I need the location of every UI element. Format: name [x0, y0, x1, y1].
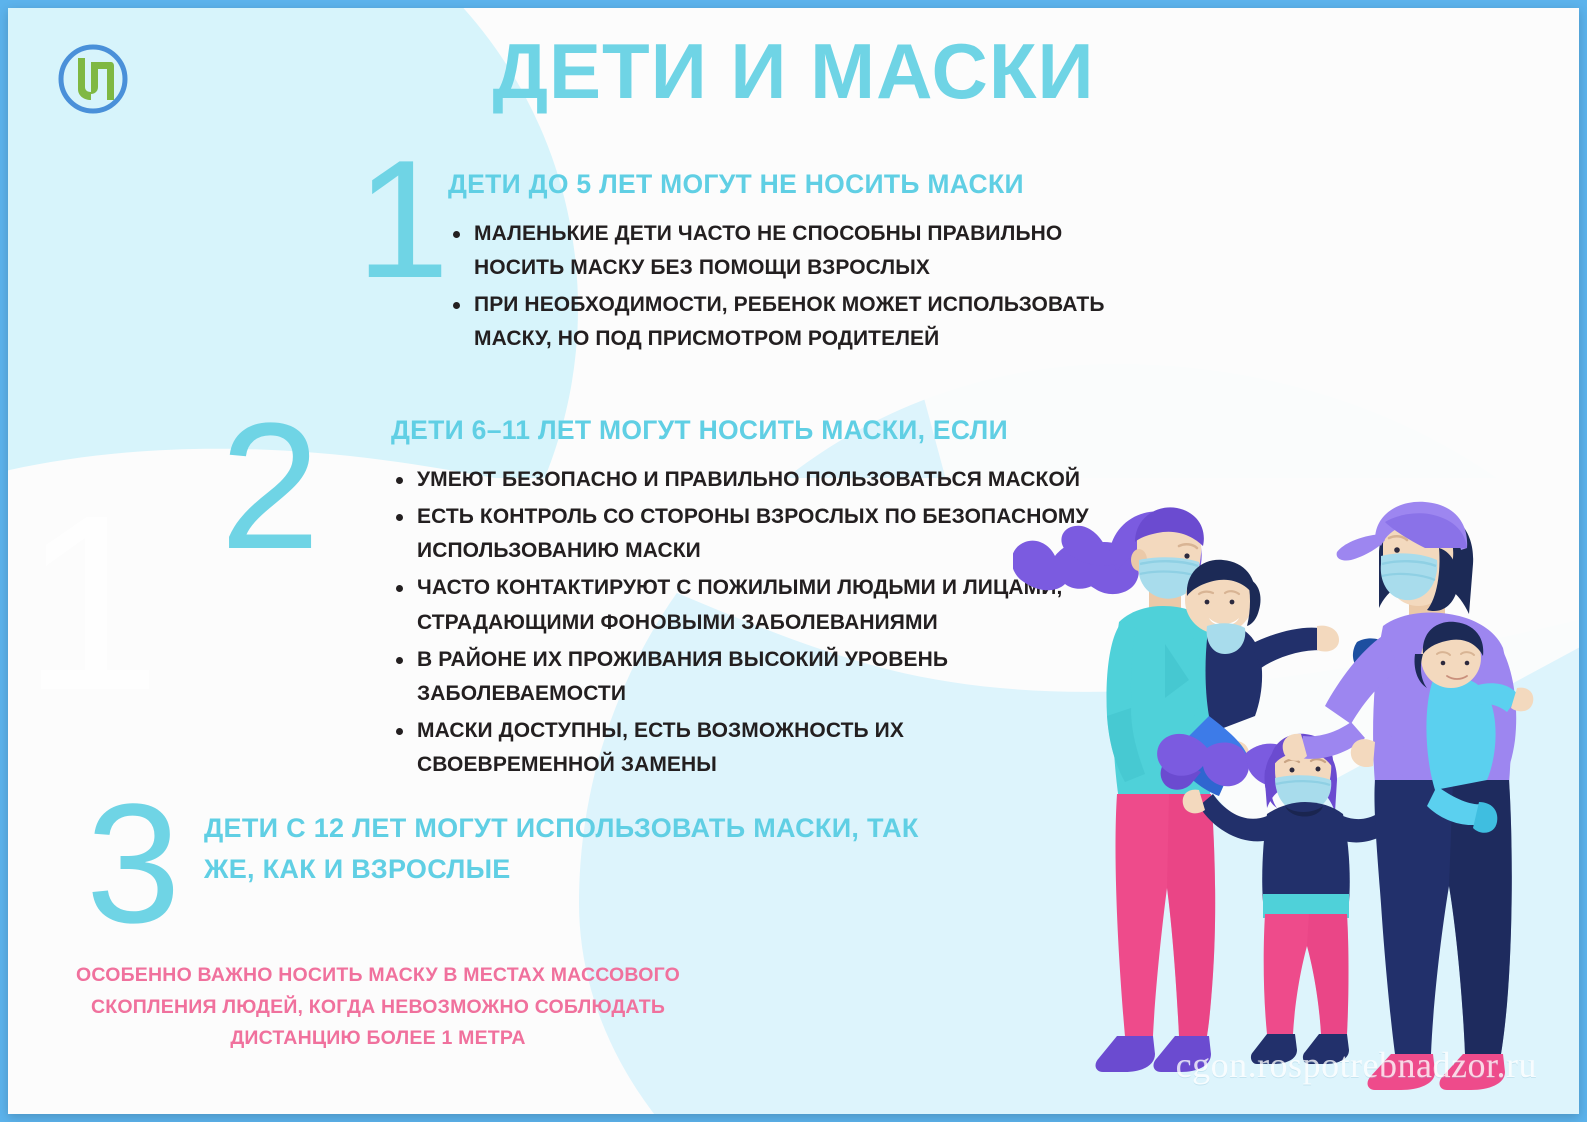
- page-title: ДЕТИ И МАСКИ: [8, 26, 1579, 117]
- section-2-heading: ДЕТИ 6–11 ЛЕТ МОГУТ НОСИТЬ МАСКИ, ЕСЛИ: [391, 412, 1091, 450]
- step-numeral-2: 2: [220, 408, 320, 566]
- site-watermark: cgon.rospotrebnadzor.ru: [1176, 1044, 1537, 1086]
- section-2-bullet-list: УМЕЮТ БЕЗОПАСНО И ПРАВИЛЬНО ПОЛЬЗОВАТЬСЯ…: [391, 463, 1091, 783]
- ghost-numeral-watermark: 1: [22, 478, 161, 728]
- section-3-heading: ДЕТИ С 12 ЛЕТ МОГУТ ИСПОЛЬЗОВАТЬ МАСКИ, …: [204, 808, 964, 890]
- list-item: ЕСТЬ КОНТРОЛЬ СО СТОРОНЫ ВЗРОСЛЫХ ПО БЕЗ…: [391, 500, 1091, 568]
- section-1-bullet-list: МАЛЕНЬКИЕ ДЕТИ ЧАСТО НЕ СПОСОБНЫ ПРАВИЛЬ…: [448, 217, 1148, 357]
- list-item: В РАЙОНЕ ИХ ПРОЖИВАНИЯ ВЫСОКИЙ УРОВЕНЬ З…: [391, 643, 1091, 711]
- poster-root: 1 ДЕТИ И МАСКИ 1 2 3 ДЕТИ ДО 5 ЛЕТ МОГУТ…: [0, 0, 1587, 1122]
- footer-important-note: ОСОБЕННО ВАЖНО НОСИТЬ МАСКУ В МЕСТАХ МАС…: [68, 960, 688, 1055]
- section-children-6-to-11: ДЕТИ 6–11 ЛЕТ МОГУТ НОСИТЬ МАСКИ, ЕСЛИ У…: [391, 412, 1091, 786]
- poster-card: 1 ДЕТИ И МАСКИ 1 2 3 ДЕТИ ДО 5 ЛЕТ МОГУТ…: [8, 8, 1579, 1114]
- section-1-heading: ДЕТИ ДО 5 ЛЕТ МОГУТ НЕ НОСИТЬ МАСКИ: [448, 166, 1148, 204]
- section-children-under-5: ДЕТИ ДО 5 ЛЕТ МОГУТ НЕ НОСИТЬ МАСКИ МАЛЕ…: [448, 166, 1148, 360]
- list-item: ЧАСТО КОНТАКТИРУЮТ С ПОЖИЛЫМИ ЛЮДЬМИ И Л…: [391, 571, 1091, 639]
- list-item: МАСКИ ДОСТУПНЫ, ЕСТЬ ВОЗМОЖНОСТЬ ИХ СВОЕ…: [391, 714, 1091, 782]
- step-numeral-1: 1: [356, 146, 449, 294]
- list-item: ПРИ НЕОБХОДИМОСТИ, РЕБЕНОК МОЖЕТ ИСПОЛЬЗ…: [448, 288, 1148, 356]
- section-children-12-plus: ДЕТИ С 12 ЛЕТ МОГУТ ИСПОЛЬЗОВАТЬ МАСКИ, …: [204, 808, 964, 903]
- list-item: МАЛЕНЬКИЕ ДЕТИ ЧАСТО НЕ СПОСОБНЫ ПРАВИЛЬ…: [448, 217, 1148, 285]
- list-item: УМЕЮТ БЕЗОПАСНО И ПРАВИЛЬНО ПОЛЬЗОВАТЬСЯ…: [391, 463, 1091, 497]
- family-illustration: [1013, 494, 1573, 1104]
- step-numeral-3: 3: [86, 790, 181, 940]
